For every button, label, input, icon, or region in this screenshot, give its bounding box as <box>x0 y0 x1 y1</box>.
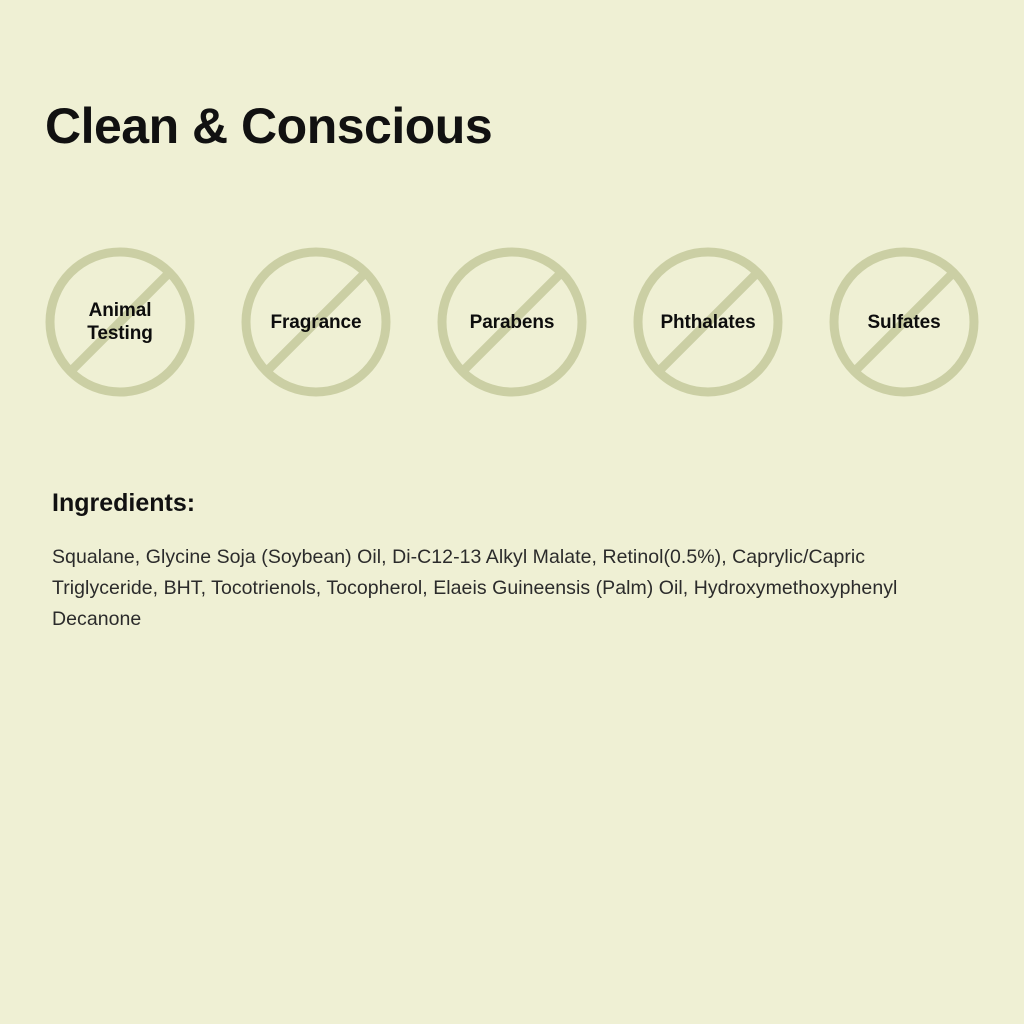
page-title: Clean & Conscious <box>45 96 492 156</box>
badge-label: Sulfates <box>829 311 979 334</box>
badge-fragrance: Fragrance <box>241 247 391 397</box>
badge-label: Parabens <box>437 311 587 334</box>
ingredients-text: Squalane, Glycine Soja (Soybean) Oil, Di… <box>52 542 970 635</box>
badge-row: Animal Testing Fragrance Parabens Phthal… <box>45 244 979 400</box>
badge-animal-testing: Animal Testing <box>45 247 195 397</box>
clean-conscious-panel: Clean & Conscious Animal Testing Fragran… <box>0 0 1024 1024</box>
badge-label: Phthalates <box>633 311 783 334</box>
badge-label: Fragrance <box>241 311 391 334</box>
ingredients-heading: Ingredients: <box>52 488 195 518</box>
badge-phthalates: Phthalates <box>633 247 783 397</box>
badge-label: Animal Testing <box>45 299 195 345</box>
badge-parabens: Parabens <box>437 247 587 397</box>
badge-sulfates: Sulfates <box>829 247 979 397</box>
